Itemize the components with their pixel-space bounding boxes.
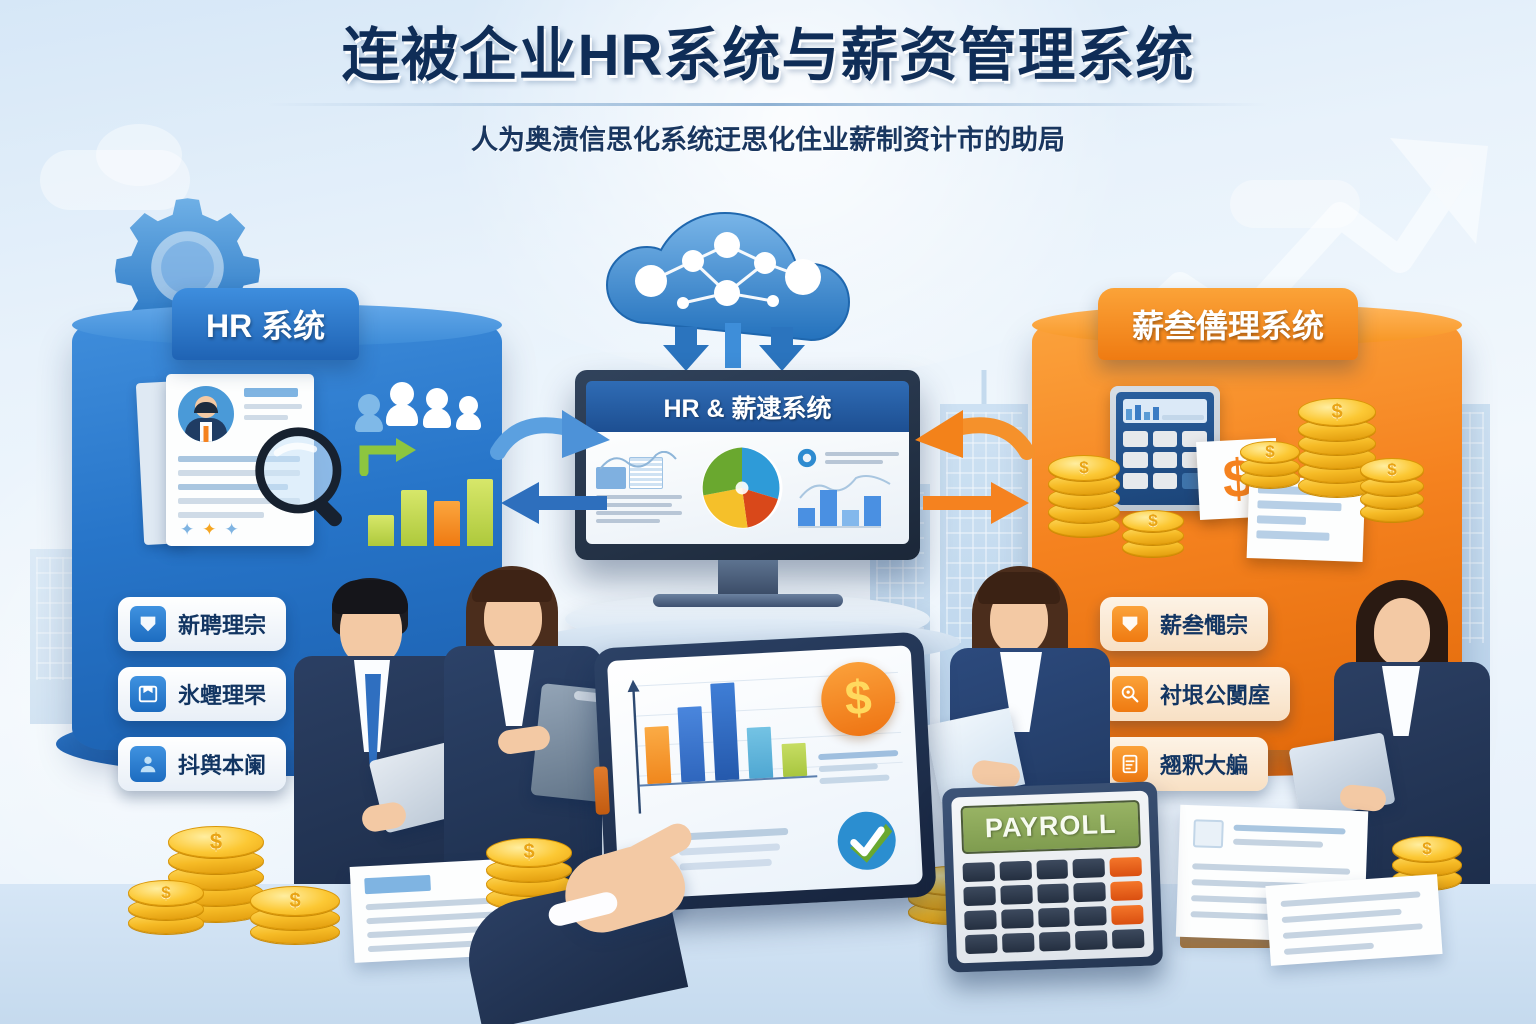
title-divider xyxy=(268,103,1268,106)
monitor-dashboard xyxy=(586,432,909,544)
calculator-key[interactable] xyxy=(1039,931,1071,951)
rating-stars: ✦ ✦ ✦ xyxy=(180,521,239,538)
user-card-icon xyxy=(130,606,166,642)
calculator-display: PAYROLL xyxy=(960,800,1141,854)
calculator-key[interactable] xyxy=(1036,859,1068,879)
hr-feature-label-1: 新聘理宗 xyxy=(178,608,266,640)
calculator-key[interactable] xyxy=(1074,882,1106,902)
payroll-feature-pill-1[interactable]: 薪叁憴宗 xyxy=(1100,597,1268,651)
calculator-key[interactable] xyxy=(964,910,996,930)
calculator-key[interactable] xyxy=(963,886,995,906)
dashboard-pie-chart xyxy=(696,442,788,534)
poster-canvas: 连被企业HR系统与薪资管理系统 人为奥渍信思化系统迂思化住业薪制资计市的助局 H… xyxy=(0,0,1536,1024)
payroll-panel-illustration: $ xyxy=(1030,372,1430,567)
page-title: 连被企业HR系统与薪资管理系统 xyxy=(0,26,1536,87)
foreground-coin-stack-3: $ xyxy=(250,872,340,952)
calculator-key[interactable] xyxy=(999,861,1031,881)
page-subtitle: 人为奥渍信思化系统迂思化住业薪制资计市的助局 xyxy=(0,118,1536,157)
calculator-key[interactable] xyxy=(1075,930,1107,950)
calculator-key-accent[interactable] xyxy=(1110,857,1142,877)
tablet-bar-chart xyxy=(642,666,808,784)
calculator-key[interactable] xyxy=(1112,929,1144,949)
coin-stack-2: $ xyxy=(1122,500,1184,560)
hr-feature-label-2: 氷蟶理罘 xyxy=(178,678,266,710)
calculator-key-accent[interactable] xyxy=(1110,881,1142,901)
hr-panel-bar-chart xyxy=(368,468,494,546)
hr-feature-pill-1[interactable]: 新聘理宗 xyxy=(118,597,286,651)
monitor-stand xyxy=(718,560,778,594)
payroll-calculator[interactable]: PAYROLL xyxy=(942,781,1163,972)
hr-panel-illustration: ✦ ✦ ✦ xyxy=(140,372,500,562)
arrow-center-to-payroll xyxy=(915,478,1035,528)
payroll-feature-label-3: 翘釈大艑 xyxy=(1160,748,1248,780)
coin-stack-3: $ xyxy=(1240,427,1300,497)
calculator-key[interactable] xyxy=(1002,933,1034,953)
monitor-foot xyxy=(653,594,843,607)
employee-avatar-icon xyxy=(178,386,234,442)
monitor-header-label: HR & 薪逮系统 xyxy=(586,381,909,432)
payroll-feature-label-1: 薪叁憴宗 xyxy=(1160,608,1248,640)
foreground-coin-stack-2: $ xyxy=(128,862,204,942)
monitor-bezel: HR & 薪逮系统 xyxy=(575,370,920,560)
calculator-key[interactable] xyxy=(1001,909,1033,929)
hr-feature-pill-2[interactable]: 氷蟶理罘 xyxy=(118,667,286,721)
approved-check-icon xyxy=(833,807,900,874)
calculator-key[interactable] xyxy=(962,862,994,882)
arrow-hr-to-center xyxy=(490,408,620,478)
cloud-network-icon xyxy=(575,205,905,385)
payroll-feature-pill-2[interactable]: 衬垠公閺庢 xyxy=(1100,667,1290,721)
hr-feature-label-3: 抖舆本阑 xyxy=(178,748,266,780)
calculator-key[interactable] xyxy=(1074,906,1106,926)
arrow-payroll-to-center xyxy=(905,408,1035,478)
central-monitor: HR & 薪逮系统 xyxy=(575,370,920,607)
calculator-body: PAYROLL xyxy=(942,781,1163,972)
payroll-system-tab-label: 薪叁僐理系统 xyxy=(1132,308,1324,344)
title-block: 连被企业HR系统与薪资管理系统 人为奥渍信思化系统迂思化住业薪制资计市的助局 xyxy=(0,26,1536,157)
arrow-center-to-hr xyxy=(495,478,615,528)
donut-chart-icon xyxy=(796,447,818,469)
calculator-key[interactable] xyxy=(1037,883,1069,903)
calculator-keypad[interactable] xyxy=(962,857,1144,954)
folder-archive-icon xyxy=(130,676,166,712)
payroll-system-tab[interactable]: 薪叁僐理系统 xyxy=(1098,288,1358,360)
hr-feature-pill-3[interactable]: 抖舆本阑 xyxy=(118,737,286,791)
foreground-document-3 xyxy=(1265,874,1442,966)
coin-stack-5: $ xyxy=(1360,442,1424,532)
hr-system-tab-label: HR 系统 xyxy=(206,308,325,344)
person-profile-icon xyxy=(130,746,166,782)
people-group-icon xyxy=(358,378,488,432)
calculator-key[interactable] xyxy=(1073,858,1105,878)
calculator-key[interactable] xyxy=(965,934,997,954)
tablet-side-button[interactable] xyxy=(593,766,609,815)
calculator-key[interactable] xyxy=(1000,885,1032,905)
calculator-key-accent[interactable] xyxy=(1111,905,1143,925)
hr-system-tab[interactable]: HR 系统 xyxy=(172,288,359,360)
magnifier-icon xyxy=(250,424,366,540)
pointing-hand-icon xyxy=(468,820,698,1010)
coin-stack: $ xyxy=(1048,447,1120,547)
payroll-feature-label-2: 衬垠公閺庢 xyxy=(1160,678,1270,710)
calculator-key[interactable] xyxy=(1038,907,1070,927)
